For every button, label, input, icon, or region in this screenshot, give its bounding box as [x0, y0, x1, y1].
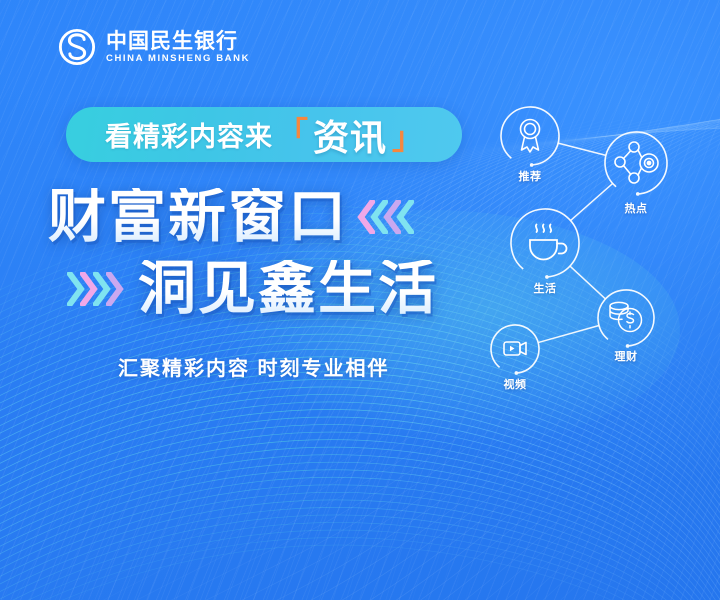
node-label-3: 理财: [615, 348, 638, 364]
node-edge: [538, 326, 599, 343]
medal-award-icon: [521, 120, 540, 153]
coin-dollar-icon: [610, 302, 642, 331]
node-label-4: 视频: [504, 376, 527, 392]
node-label-0: 推荐: [519, 168, 542, 184]
video-play-icon: [504, 342, 526, 355]
feature-icon-network: [0, 0, 720, 600]
promo-banner: 中国民生银行 CHINA MINSHENG BANK 看精彩内容来 「 资讯 」…: [0, 0, 720, 600]
network-nodes-icon: [615, 142, 658, 183]
node-label-1: 热点: [625, 200, 648, 216]
node-ring: [497, 195, 593, 291]
node-edge: [558, 143, 606, 155]
node-edge: [570, 266, 606, 299]
coffee-cup-icon: [530, 225, 567, 260]
node-label-2: 生活: [534, 280, 557, 296]
node-edge: [571, 183, 613, 220]
